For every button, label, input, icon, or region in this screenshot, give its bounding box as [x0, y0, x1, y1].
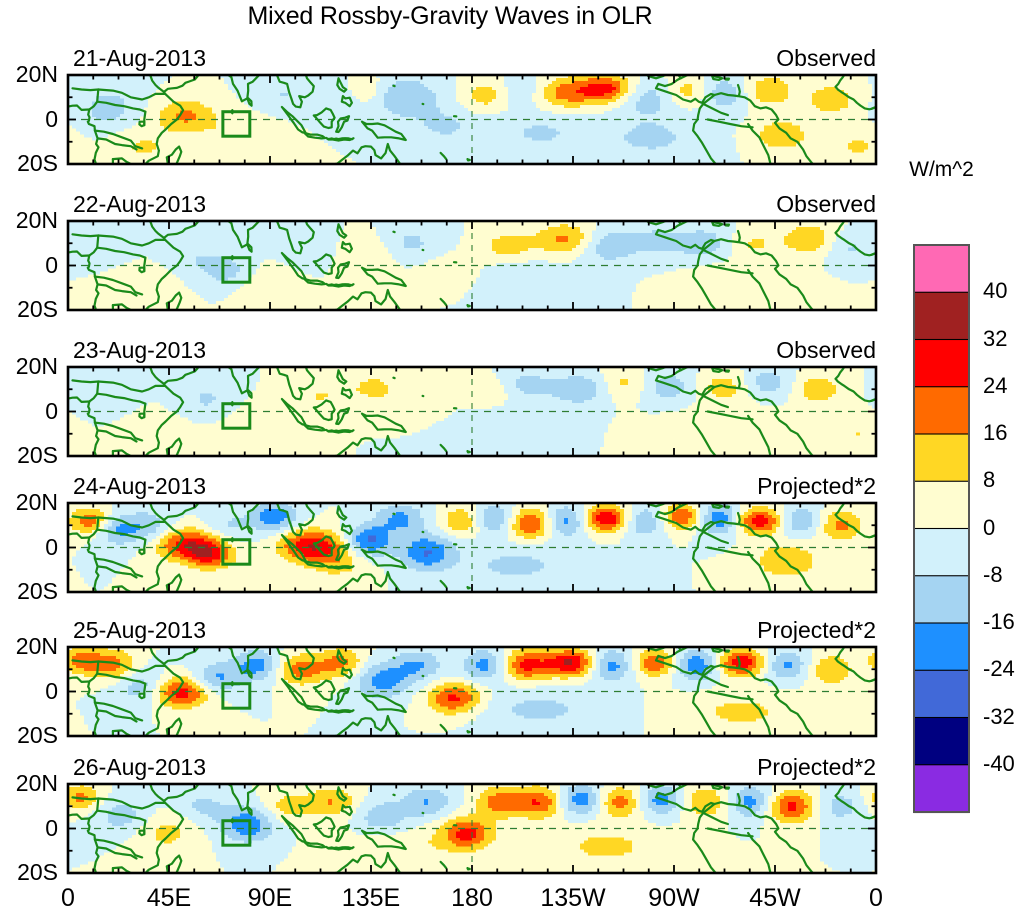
colorbar-tick-label: -24 [983, 656, 1015, 682]
colorbar-unit-label: W/m^2 [869, 158, 1014, 182]
colorbar-tick-label: 8 [983, 467, 995, 493]
colorbar-tick-label: 32 [983, 326, 1007, 352]
colorbar-tick-label: 40 [983, 278, 1007, 304]
page-title: Mixed Rossby-Gravity Waves in OLR [0, 2, 900, 31]
x-axis-label: 0 [816, 884, 936, 913]
figure-root: Mixed Rossby-Gravity Waves in OLR 21-Aug… [0, 0, 1021, 922]
map-panel [0, 772, 1021, 885]
colorbar-tick-label: -8 [983, 562, 1003, 588]
map-panel [0, 209, 1021, 322]
map-panel [0, 63, 1021, 176]
colorbar-tick-label: -32 [983, 704, 1015, 730]
map-panel [0, 355, 1021, 468]
map-panel [0, 491, 1021, 604]
colorbar-tick-label: 0 [983, 515, 995, 541]
colorbar-tick-label: 16 [983, 420, 1007, 446]
colorbar-tick-label: 24 [983, 373, 1007, 399]
colorbar-tick-label: -16 [983, 609, 1015, 635]
map-panel [0, 635, 1021, 748]
colorbar-tick-label: -40 [983, 751, 1015, 777]
